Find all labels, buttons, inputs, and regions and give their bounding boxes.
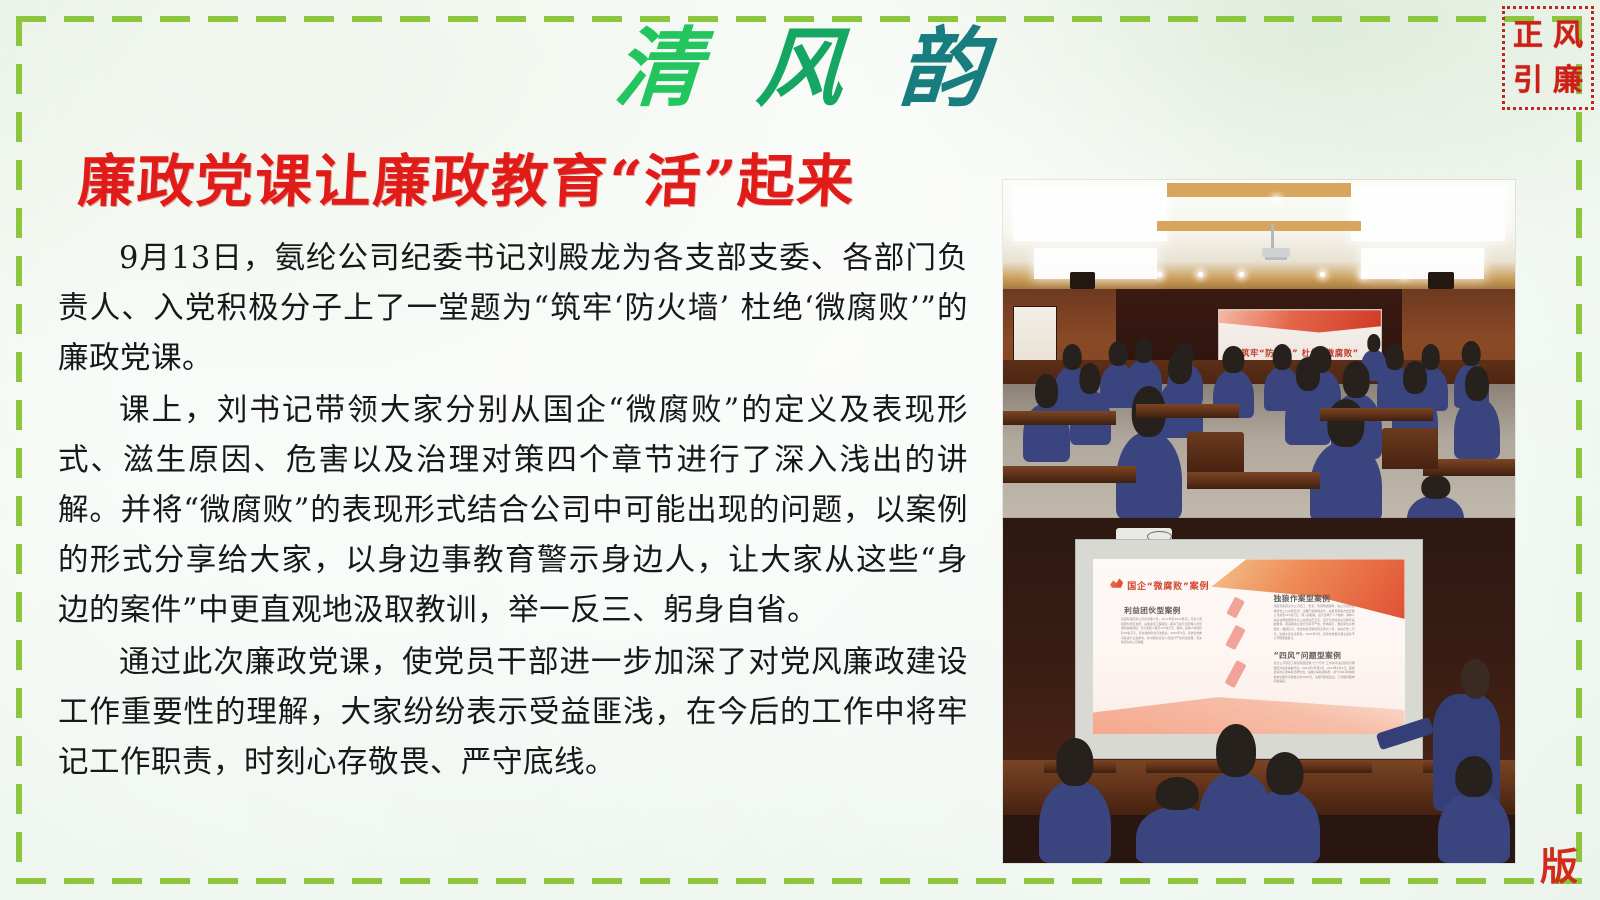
- audience-desk: [1136, 404, 1238, 418]
- poster-canvas: 正 风 引 廉 清 风 韵 廉政党课让廉政教育“活”起来 9月13日，氨纶公司纪…: [0, 0, 1600, 900]
- audience-person: [1136, 807, 1218, 863]
- hall-scene-2: 国企“微腐败”案例 利益团伙型案例 独狼作案型案例 “四风”问题型案例 某国有集…: [1003, 518, 1515, 863]
- seal-char-1: 正: [1513, 21, 1543, 51]
- ceiling-panel: [1351, 187, 1505, 241]
- slide-decor-top: [1219, 310, 1381, 332]
- slide-accent-slash: [1225, 625, 1245, 650]
- ceiling-panel: [1013, 187, 1167, 241]
- border-bottom: [16, 878, 1582, 884]
- paragraph-3: 通过此次廉政党课，使党员干部进一步加深了对党风廉政建设工作重要性的理解，大家纷纷…: [58, 638, 968, 788]
- hall-scene: 筑牢“防火墙” 杜绝“微腐败” 氨纶公司纪委书记 刘殿龙\n廉政党课专题讲座: [1003, 180, 1515, 520]
- ceiling-panel: [1034, 248, 1157, 279]
- audience-desk: [1003, 411, 1116, 425]
- wall-speaker: [1428, 272, 1454, 289]
- slide-heading-2: 独狼作案型案例: [1274, 593, 1331, 604]
- audience-person: [1454, 398, 1500, 459]
- photo-conference-hall: 筑牢“防火墙” 杜绝“微腐败” 氨纶公司纪委书记 刘殿龙\n廉政党课专题讲座: [1003, 180, 1515, 520]
- audience-desk: [1003, 466, 1136, 483]
- slide-body-1: 某国有集团某公司某管理人员，2017年至2019年间，与商人围猎团伙相互勾结，违…: [1121, 617, 1202, 645]
- main-title-char-3: 韵: [896, 26, 988, 112]
- main-title-char-1: 清: [612, 26, 704, 112]
- slide-heading-1: 利益团伙型案例: [1124, 605, 1181, 616]
- article-body: 9月13日，氨纶公司纪委书记刘殿龙为各支部支委、各部门负责人、入党积极分子上了一…: [58, 234, 968, 790]
- article-headline: 廉政党课让廉政教育“活”起来: [76, 150, 959, 214]
- chair: [1382, 428, 1438, 469]
- photo-slide-presentation: 国企“微腐败”案例 利益团伙型案例 独狼作案型案例 “四风”问题型案例 某国有集…: [1003, 518, 1515, 863]
- seal-stamp: 正 风 引 廉: [1502, 6, 1594, 110]
- ceiling-downlight: [1239, 272, 1244, 277]
- ceiling-downlight: [1198, 272, 1203, 277]
- audience-foreground: [1003, 746, 1515, 863]
- audience-person: [1438, 793, 1510, 863]
- seal-char-2: 风: [1553, 21, 1583, 51]
- main-title-char-2: 风: [754, 26, 846, 112]
- border-right: [1576, 16, 1582, 884]
- edition-mark: 版: [1540, 848, 1578, 886]
- slide-title-text: 筑牢“防火墙” 杜绝“微腐败”: [1229, 347, 1371, 359]
- slide-accent-slash: [1225, 660, 1247, 688]
- slide-accent-slash: [1226, 596, 1245, 618]
- audience-person: [1039, 781, 1111, 863]
- ceiling-projector: [1262, 248, 1290, 257]
- audience-desk: [1187, 472, 1320, 489]
- audience-desk: [1320, 408, 1433, 422]
- main-title: 清 风 韵: [0, 26, 1600, 112]
- wall-speaker: [1070, 272, 1096, 289]
- seal-char-3: 引: [1513, 66, 1543, 96]
- slide-body-2: 某国有集团某分公司员工，张某，利用网络赌博，在公司资金结算岗位上以虚假合同、违规…: [1274, 604, 1355, 641]
- audience-person: [1249, 790, 1321, 863]
- presentation-slide: 国企“微腐败”案例 利益团伙型案例 独狼作案型案例 “四风”问题型案例 某国有集…: [1093, 559, 1405, 734]
- seal-char-4: 廉: [1553, 66, 1583, 96]
- slide-body-3: 某分公司项目工程部原副经理“七个行为”工作时间违反组织管理规定外出办事被问责，2…: [1274, 661, 1355, 684]
- slide-shape-bottom: [1093, 689, 1405, 735]
- slide-title-2: 国企“微腐败”案例: [1127, 579, 1209, 592]
- ceiling-strip: [1157, 221, 1362, 231]
- ceiling-panel: [1361, 248, 1484, 279]
- ceiling-downlight: [1157, 272, 1162, 277]
- flame-icon: [1110, 578, 1123, 588]
- projection-screen-2: 国企“微腐败”案例 利益团伙型案例 独狼作案型案例 “四风”问题型案例 某国有集…: [1075, 539, 1423, 760]
- ceiling-strip: [1167, 183, 1351, 197]
- border-left: [16, 16, 22, 884]
- audience-person-foreground: [1310, 442, 1382, 520]
- chair: [1187, 432, 1243, 473]
- slide-heading-3: “四风”问题型案例: [1274, 650, 1342, 661]
- paragraph-2: 课上，刘书记带领大家分别从国企“微腐败”的定义及表现形式、滋生原因、危害以及治理…: [58, 386, 968, 636]
- paragraph-1: 9月13日，氨纶公司纪委书记刘殿龙为各支部支委、各部门负责人、入党积极分子上了一…: [58, 234, 968, 384]
